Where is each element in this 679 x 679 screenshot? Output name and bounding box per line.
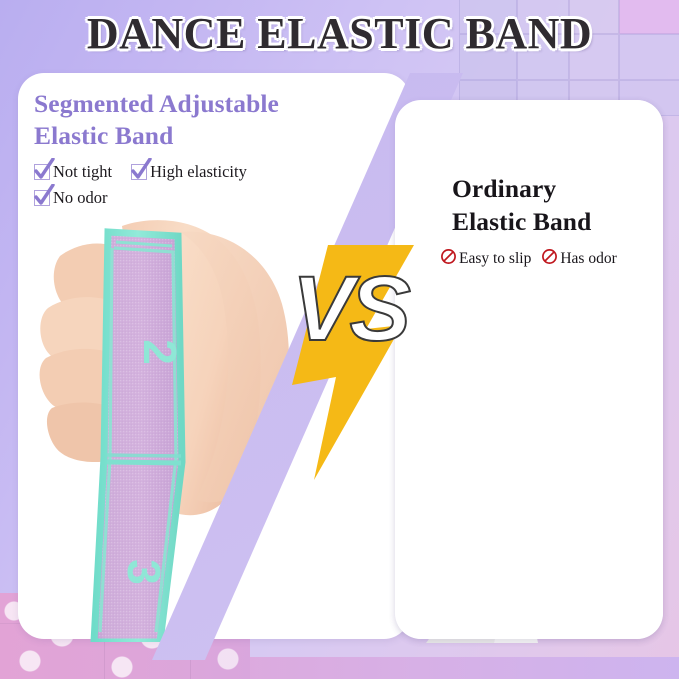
- feature-item-no-odor: No odor: [34, 188, 108, 208]
- left-heading-line-2: Elastic Band: [34, 120, 384, 152]
- right-panel-content: Ordinary Elastic Band Easy to slip: [452, 172, 672, 270]
- drawback-item-easy-to-slip: Easy to slip: [440, 248, 531, 270]
- checkbox-checked-icon: [34, 190, 50, 206]
- feature-label-high-elasticity: High elasticity: [150, 162, 247, 182]
- right-drawback-row: Easy to slip Has odor: [440, 248, 672, 270]
- tile-grid-decoration: [459, 0, 679, 116]
- page-title: DANCE ELASTIC BAND: [0, 8, 679, 59]
- drawback-item-has-odor: Has odor: [541, 248, 616, 270]
- feature-label-no-odor: No odor: [53, 188, 108, 208]
- feature-label-not-tight: Not tight: [53, 162, 112, 182]
- svg-text:3: 3: [118, 559, 170, 585]
- bottom-pink-strip: [0, 657, 679, 679]
- prohibition-icon: [541, 248, 558, 270]
- left-feature-row-2: No odor: [34, 188, 384, 208]
- left-panel-content: Segmented Adjustable Elastic Band Not ti…: [34, 88, 384, 208]
- feature-item-not-tight: Not tight: [34, 162, 112, 182]
- left-feature-row-1: Not tight High elasticity: [34, 162, 384, 182]
- right-panel-heading: Ordinary Elastic Band: [452, 172, 672, 238]
- checkbox-checked-icon: [131, 164, 147, 180]
- svg-text:2: 2: [134, 339, 186, 365]
- left-panel-heading: Segmented Adjustable Elastic Band: [34, 88, 384, 153]
- versus-badge: VS: [262, 245, 437, 480]
- feature-item-high-elasticity: High elasticity: [131, 162, 247, 182]
- lightning-bolt-icon: [262, 245, 437, 480]
- drawback-label-easy-to-slip: Easy to slip: [459, 250, 531, 268]
- left-heading-line-1: Segmented Adjustable: [34, 88, 384, 120]
- prohibition-icon: [440, 248, 457, 270]
- right-heading-line-1: Ordinary: [452, 172, 672, 205]
- drawback-label-has-odor: Has odor: [560, 250, 616, 268]
- right-heading-line-2: Elastic Band: [452, 205, 672, 238]
- product-comparison-image: DANCE ELASTIC BAND: [0, 0, 679, 679]
- checkbox-checked-icon: [34, 164, 50, 180]
